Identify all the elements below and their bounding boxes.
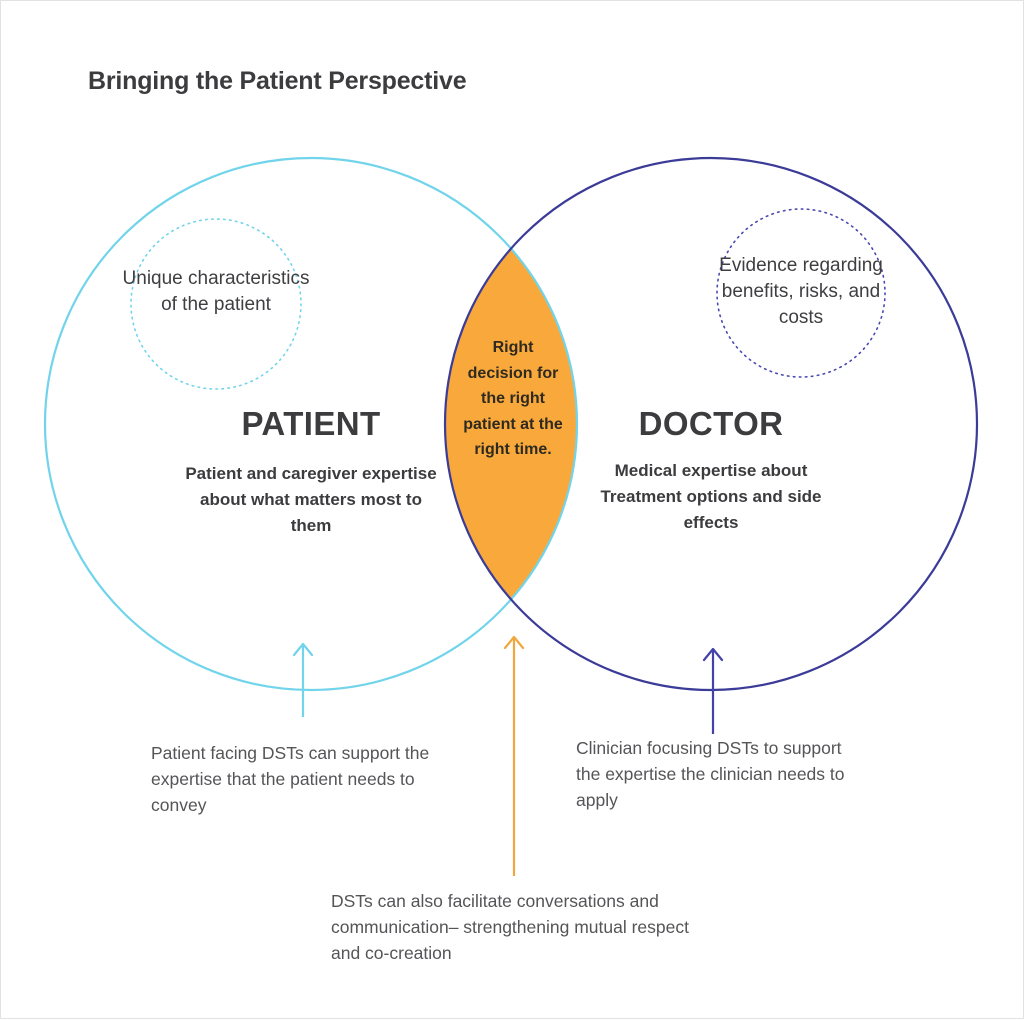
intersection-label: Right decision for the right patient at … — [463, 335, 563, 463]
arrow-up-icon-center — [505, 637, 523, 876]
venn-diagram-graphic — [1, 1, 1024, 1020]
diagram-canvas: Bringing the Patient Perspective — [0, 0, 1024, 1019]
arrow-up-icon-doctor — [704, 649, 722, 734]
annotation-center: DSTs can also facilitate conversations a… — [331, 888, 701, 966]
patient-subtitle: Patient and caregiver expertise about wh… — [179, 461, 443, 539]
doctor-subtitle: Medical expertise about Treatment option… — [579, 458, 843, 536]
annotation-doctor: Clinician focusing DSTs to support the e… — [576, 735, 846, 813]
arrow-up-icon-patient — [294, 644, 312, 717]
doctor-heading: DOCTOR — [581, 405, 841, 443]
annotation-patient: Patient facing DSTs can support the expe… — [151, 740, 451, 818]
patient-bubble-label: Unique characteristics of the patient — [116, 266, 316, 318]
patient-heading: PATIENT — [181, 405, 441, 443]
doctor-bubble-label: Evidence regarding benefits, risks, and … — [701, 253, 901, 331]
